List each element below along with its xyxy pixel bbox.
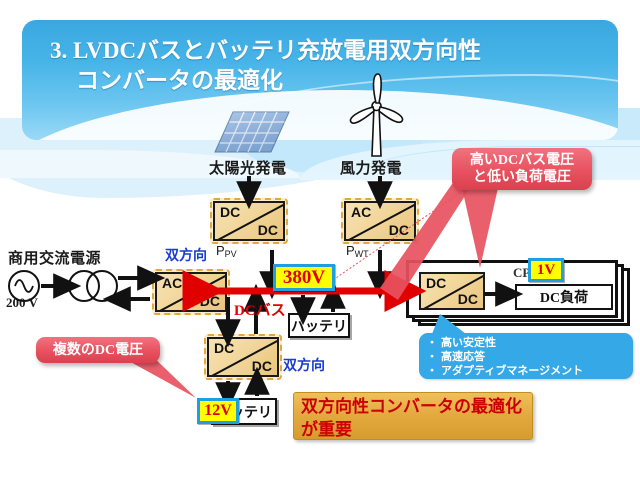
power-pv-base: P	[216, 243, 225, 258]
battery-voltage-value: 12V	[204, 402, 232, 420]
callout-high-bus-line2: と低い負荷電圧	[473, 169, 571, 186]
power-wt-subscript: WT	[355, 249, 369, 259]
dc-bus-label: DCバス	[234, 299, 286, 320]
callout-high-bus-line1: 高いDCバス電圧	[470, 152, 574, 169]
bidirectional-label-battery: 双方向	[283, 355, 325, 375]
battery-voltage-badge: 12V	[197, 398, 239, 424]
callout-pointers	[0, 0, 640, 480]
power-wt-label: PWT	[346, 243, 369, 259]
load-voltage-value: 1V	[537, 262, 555, 279]
load-voltage-badge: 1V	[528, 258, 564, 282]
callout-multiple-dc-voltages: 複数のDC電圧	[36, 337, 160, 363]
power-pv-subscript: PV	[225, 249, 237, 259]
power-pv-label: PPV	[216, 243, 237, 259]
power-wt-base: P	[346, 243, 355, 258]
callout-multiple-dc-line1: 複数のDC電圧	[53, 342, 143, 359]
bidirectional-label-grid: 双方向	[165, 245, 207, 265]
bus-voltage-value: 380V	[283, 267, 325, 289]
bus-voltage-badge: 380V	[273, 264, 335, 291]
callout-high-bus-voltage: 高いDCバス電圧 と低い負荷電圧	[452, 148, 592, 190]
slide-canvas: 3. LVDCバスとバッテリ充放電用双方向性 コンバータの最適化	[0, 0, 640, 480]
